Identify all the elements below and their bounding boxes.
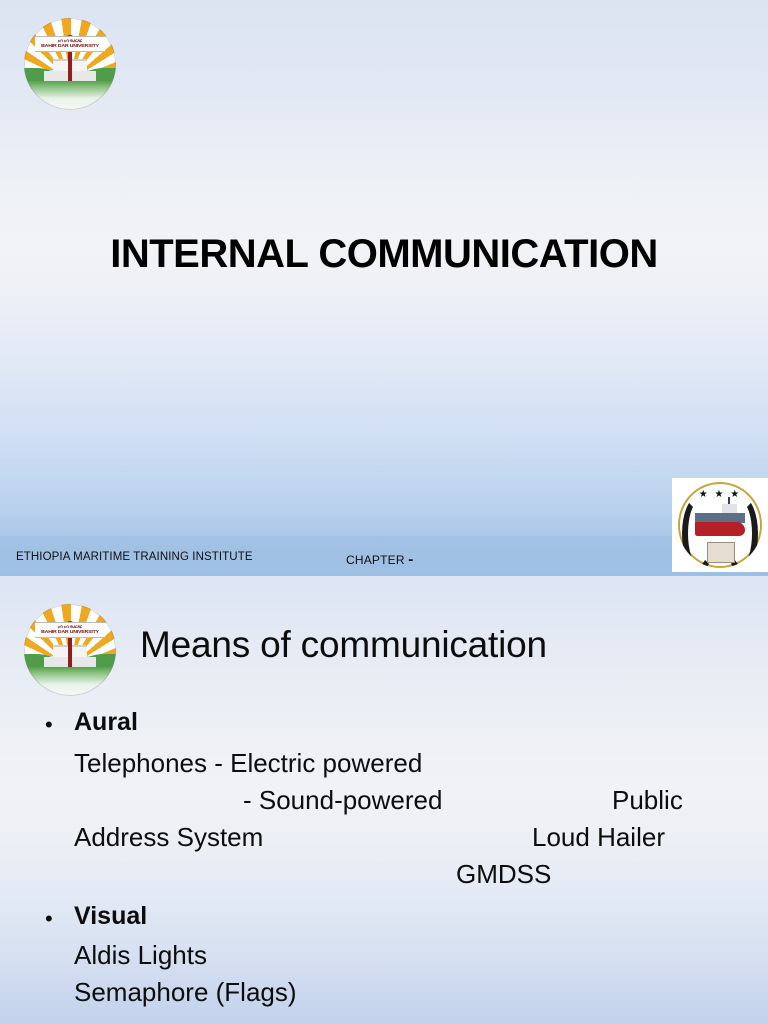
university-seal-icon: ኦባ ኦባ ባህርዳር BAHIR DAR UNIVERSITY bbox=[24, 18, 116, 110]
body-text: Address System bbox=[74, 822, 263, 853]
body-text: - Sound-powered bbox=[243, 785, 442, 816]
bullet-label-visual: Visual bbox=[74, 902, 147, 931]
list-item: • Aural bbox=[0, 708, 768, 748]
footer-chapter-dash: - bbox=[408, 551, 413, 568]
body-line: - Sound-powered Public bbox=[0, 785, 768, 822]
body-text-center: GMDSS bbox=[456, 859, 551, 890]
body-line: Address System Loud Hailer bbox=[0, 822, 768, 859]
maritime-crest-icon: ★ ★ ★ bbox=[678, 482, 762, 568]
body-line: Aldis Lights bbox=[0, 940, 768, 977]
list-item: • Visual bbox=[0, 896, 768, 940]
body-line: GMDSS bbox=[0, 859, 768, 896]
content-slide: ኦባ ኦባ ባህርዳር BAHIR DAR UNIVERSITY Means o… bbox=[0, 576, 768, 1024]
bullet-icon: • bbox=[45, 908, 53, 930]
bullet-icon: • bbox=[45, 714, 53, 736]
crest-ship-hull bbox=[695, 522, 745, 536]
maritime-crest-container: ★ ★ ★ bbox=[672, 478, 768, 572]
title-slide: ኦባ ኦባ ባህርዳር BAHIR DAR UNIVERSITY INTERNA… bbox=[0, 0, 768, 576]
slide-body: • Aural Telephones - Electric powered - … bbox=[0, 708, 768, 1014]
seal-ring bbox=[24, 18, 116, 110]
footer-chapter: CHAPTER - bbox=[346, 551, 414, 568]
seal-ring bbox=[24, 604, 116, 696]
bullet-label-aural: Aural bbox=[74, 708, 138, 737]
body-line: Telephones - Electric powered bbox=[0, 748, 768, 785]
body-text-right: Public bbox=[612, 785, 683, 816]
university-seal-icon: ኦባ ኦባ ባህርዳር BAHIR DAR UNIVERSITY bbox=[24, 604, 116, 696]
footer-institute-name: ETHIOPIA MARITIME TRAINING INSTITUTE bbox=[16, 551, 253, 563]
crest-stars: ★ ★ ★ bbox=[678, 490, 762, 500]
body-text: Aldis Lights bbox=[74, 940, 207, 971]
page-title: INTERNAL COMMUNICATION bbox=[0, 232, 768, 277]
slide-heading: Means of communication bbox=[140, 624, 547, 666]
footer-chapter-label: CHAPTER bbox=[346, 553, 405, 567]
body-text-right: Loud Hailer bbox=[532, 822, 665, 853]
body-text: Telephones - Electric powered bbox=[74, 748, 422, 779]
body-line: Semaphore (Flags) bbox=[0, 977, 768, 1014]
slide-deck: ኦባ ኦባ ባህርዳር BAHIR DAR UNIVERSITY INTERNA… bbox=[0, 0, 768, 1024]
body-text: Semaphore (Flags) bbox=[74, 977, 297, 1008]
crest-base-plaque bbox=[707, 542, 734, 563]
